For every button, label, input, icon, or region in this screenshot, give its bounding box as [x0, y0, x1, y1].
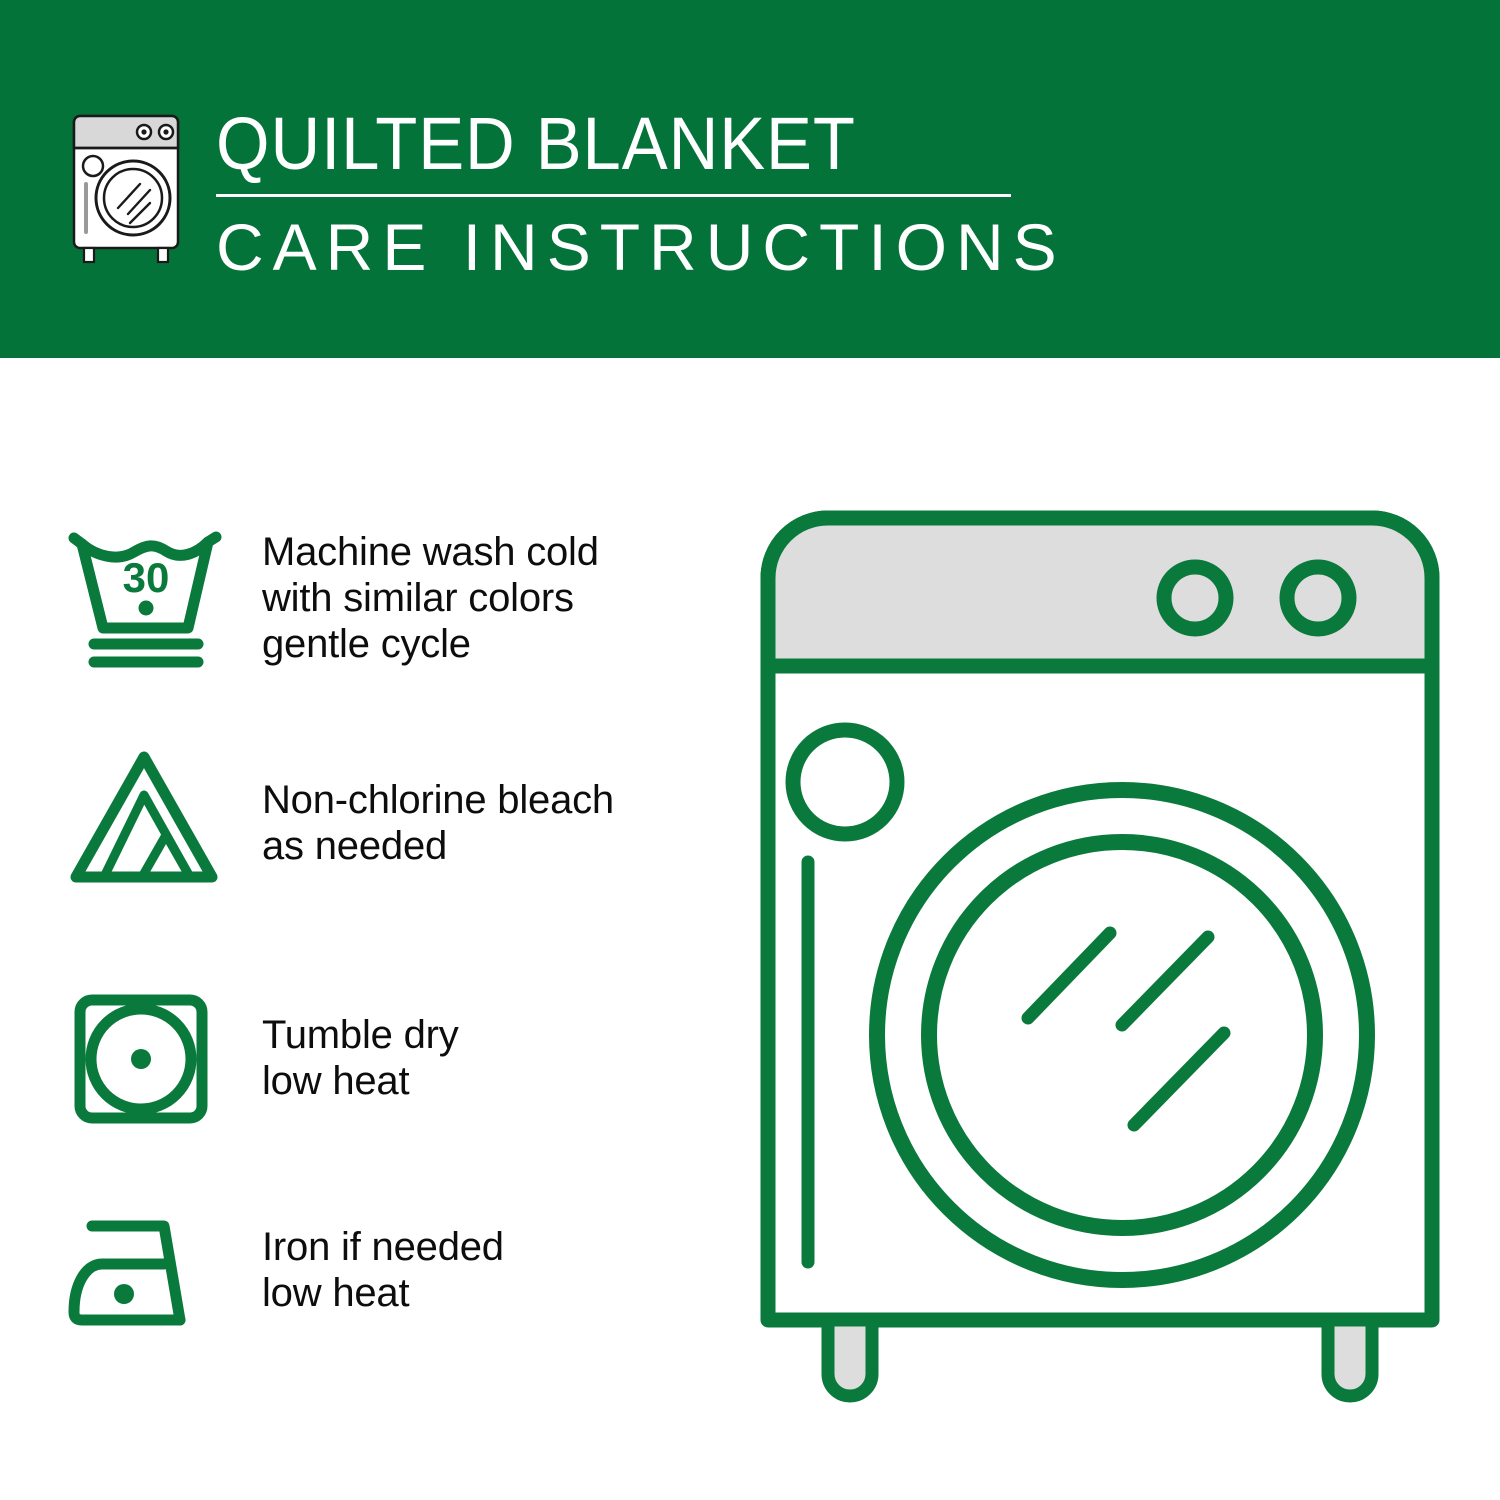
care-item-label: Iron if needed low heat — [262, 1224, 504, 1316]
care-label-line-2: low heat — [262, 1270, 504, 1316]
care-item-label: Non-chlorine bleach as needed — [262, 777, 614, 869]
title-divider — [216, 194, 1011, 197]
page-subtitle: CARE INSTRUCTIONS — [216, 211, 1026, 283]
care-label-line-2: low heat — [262, 1058, 459, 1104]
non-chlorine-bleach-icon — [62, 738, 242, 908]
care-label-line-2: with similar colors — [262, 575, 599, 621]
care-item-label: Machine wash cold with similar colors ge… — [262, 529, 599, 667]
care-label-line-1: Non-chlorine bleach — [262, 777, 614, 823]
care-label-line-3: gentle cycle — [262, 621, 599, 667]
iron-low-heat-icon — [62, 1185, 242, 1355]
care-label-line-1: Machine wash cold — [262, 529, 599, 575]
care-item-iron: Iron if needed low heat — [0, 1180, 720, 1360]
care-label-line-2: as needed — [262, 823, 614, 869]
washing-machine-logo-icon — [66, 108, 196, 268]
care-item-tumble-dry: Tumble dry low heat — [0, 968, 720, 1148]
wash-temperature-value: 30 — [123, 554, 170, 601]
machine-wash-30-gentle-icon: 30 — [62, 513, 242, 683]
care-label-line-1: Iron if needed — [262, 1224, 504, 1270]
care-item-label: Tumble dry low heat — [262, 1012, 459, 1104]
header-banner: QUILTED BLANKET CARE INSTRUCTIONS — [0, 0, 1500, 358]
care-item-bleach: Non-chlorine bleach as needed — [0, 733, 720, 913]
page-title: QUILTED BLANKET — [216, 104, 969, 184]
tumble-dry-low-icon — [62, 973, 242, 1143]
care-label-line-1: Tumble dry — [262, 1012, 459, 1058]
care-item-machine-wash: 30 Machine wash cold with similar colors… — [0, 508, 720, 688]
header-title-block: QUILTED BLANKET CARE INSTRUCTIONS — [216, 104, 1026, 283]
care-instruction-list: 30 Machine wash cold with similar colors… — [0, 358, 720, 1500]
washing-machine-illustration — [740, 490, 1460, 1430]
